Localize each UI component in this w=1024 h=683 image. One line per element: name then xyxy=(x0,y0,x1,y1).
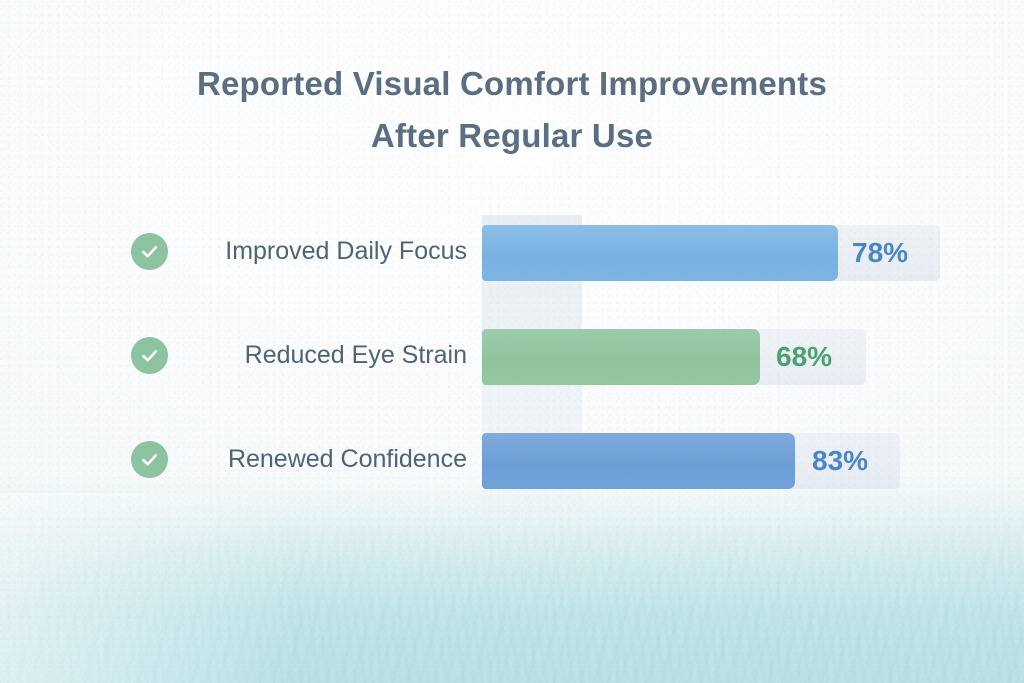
horizontal-bar-chart: Improved Daily Focus 78% Reduced Eye Str… xyxy=(0,215,1024,527)
page-title: Reported Visual Comfort Improvements Aft… xyxy=(0,58,1024,162)
bar-value-label: 68% xyxy=(776,329,832,385)
chart-row: Renewed Confidence 83% xyxy=(0,423,1024,527)
page-title-line-2: After Regular Use xyxy=(0,110,1024,162)
page-title-line-1: Reported Visual Comfort Improvements xyxy=(0,58,1024,110)
bar-fill xyxy=(482,329,760,385)
bar-value-label: 83% xyxy=(812,433,868,489)
chart-row: Improved Daily Focus 78% xyxy=(0,215,1024,319)
bar-category-label: Renewed Confidence xyxy=(180,441,467,478)
chart-canvas: Reported Visual Comfort Improvements Aft… xyxy=(0,0,1024,683)
chart-row: Reduced Eye Strain 68% xyxy=(0,319,1024,423)
bar-category-label: Reduced Eye Strain xyxy=(180,337,467,374)
bar-value-label: 78% xyxy=(852,225,908,281)
check-circle-icon xyxy=(131,233,168,270)
bar-fill xyxy=(482,225,838,281)
check-circle-icon xyxy=(131,337,168,374)
bar-category-label: Improved Daily Focus xyxy=(180,233,467,270)
check-circle-icon xyxy=(131,441,168,478)
bar-fill xyxy=(482,433,795,489)
